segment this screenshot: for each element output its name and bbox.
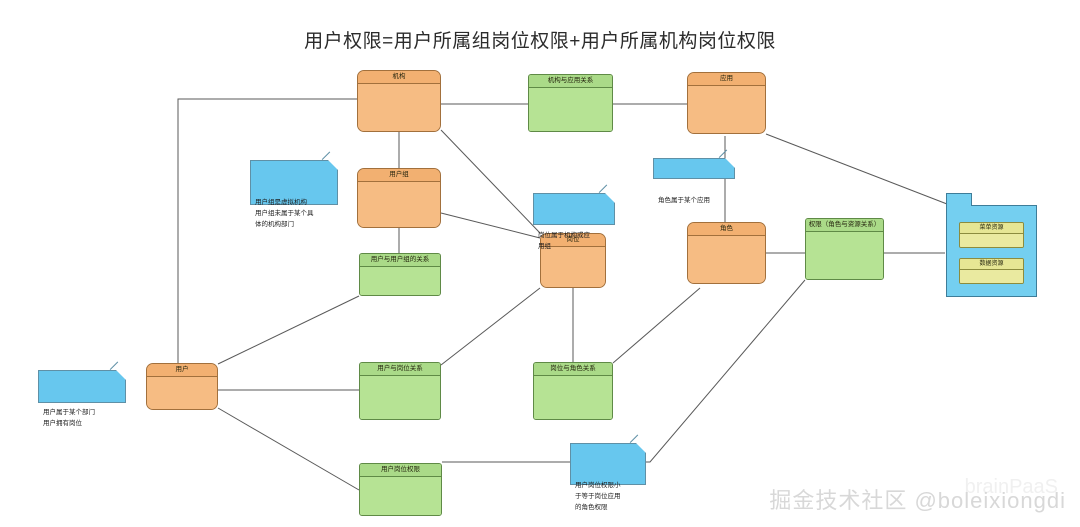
node-menu-resource-body [960,234,1023,247]
node-data-resource-body [960,270,1023,283]
node-user-group-body [358,182,440,227]
link-positionrole-role [613,288,700,363]
node-user-usergroup-rel-body [360,267,440,295]
node-app-body [688,86,765,133]
note-user[interactable]: 用户属于某个部门 用户拥有岗位 [38,370,126,403]
node-role-label: 角色 [688,223,765,236]
node-data-resource-label: 数据资源 [960,259,1023,270]
node-user-position-rel[interactable]: 用户与岗位关系 [359,362,441,420]
node-user-group[interactable]: 用户组 [357,168,441,228]
node-user-position-rel-body [360,376,440,419]
link-user-userpositionperm [218,408,359,490]
node-user-usergroup-rel[interactable]: 用户与用户组的关系 [359,253,441,296]
node-user-group-label: 用户组 [358,169,440,182]
node-permission[interactable]: 权限（角色与资源关系） [805,218,884,280]
note-role-text: 角色属于某个应用 [658,197,710,204]
watermark: 掘金技术社区 @boleixiongdi [769,483,1066,515]
link-app-resource [766,134,947,204]
link-userrel-user [218,296,359,364]
link-user-org [178,99,357,363]
resource-component[interactable]: 菜单资源 数据资源 [946,205,1037,297]
link-userposition-position [441,288,540,365]
node-user-usergroup-rel-label: 用户与用户组的关系 [360,254,440,267]
node-user-position-perm-body [360,477,441,515]
node-position-role-rel-body [534,376,612,419]
node-user-position-perm-label: 用户岗位权限 [360,464,441,477]
node-role[interactable]: 角色 [687,222,766,284]
node-org[interactable]: 机构 [357,70,441,132]
node-user-position-rel-label: 用户与岗位关系 [360,363,440,376]
node-position-body [541,247,605,287]
node-permission-label: 权限（角色与资源关系） [806,219,883,232]
node-data-resource[interactable]: 数据资源 [959,258,1024,284]
node-user-label: 用户 [147,364,217,377]
note-usergroup[interactable]: 用户组是虚拟机构 用户组未属于某个具 体的机构部门 [250,160,338,205]
node-app[interactable]: 应用 [687,72,766,134]
node-role-body [688,236,765,283]
note-user-position-perm[interactable]: 用户岗位权限小 于等于岗位应用 的角色权限 [570,443,646,485]
node-org-app-rel[interactable]: 机构与应用关系 [528,74,613,132]
node-org-body [358,84,440,131]
link-permission-userpositionperm [442,280,805,462]
link-org-position [441,130,540,233]
node-org-label: 机构 [358,71,440,84]
note-role[interactable]: 角色属于某个应用 [653,158,735,179]
node-position-role-rel[interactable]: 岗位与角色关系 [533,362,613,420]
node-user[interactable]: 用户 [146,363,218,410]
node-position-role-rel-label: 岗位与角色关系 [534,363,612,376]
node-user-position-perm[interactable]: 用户岗位权限 [359,463,442,516]
link-usergroup-position [441,213,540,238]
node-user-body [147,377,217,409]
node-menu-resource[interactable]: 菜单资源 [959,222,1024,248]
node-menu-resource-label: 菜单资源 [960,223,1023,234]
diagram-canvas: 用户权限=用户所属组岗位权限+用户所属机构岗位权限 [0,0,1080,527]
node-permission-body [806,232,883,279]
component-tab [946,193,972,206]
node-org-app-rel-body [529,88,612,131]
node-app-label: 应用 [688,73,765,86]
note-position[interactable]: 岗位属于机构或应 用组 [533,193,615,225]
node-org-app-rel-label: 机构与应用关系 [529,75,612,88]
